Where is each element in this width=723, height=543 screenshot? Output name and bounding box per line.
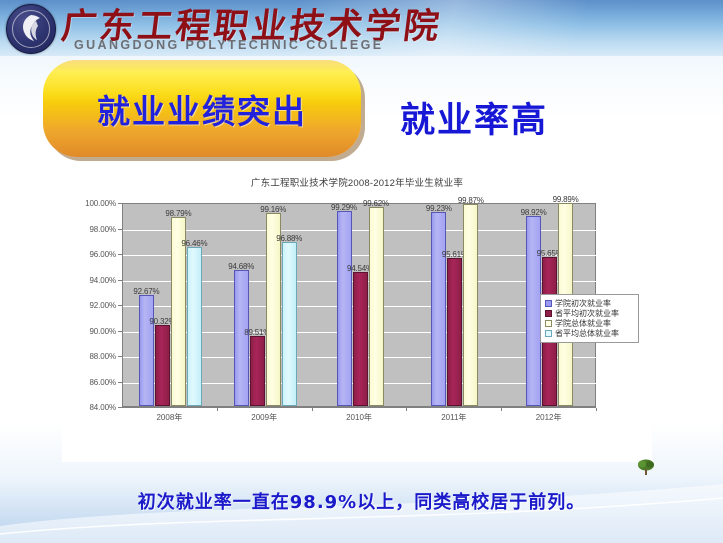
chart-x-axis-line (122, 407, 596, 408)
chart-legend-item[interactable]: 学院总体就业率 (545, 319, 634, 328)
chart-legend-swatch (545, 330, 552, 337)
chart-bar (369, 207, 384, 406)
chart-x-tick-label: 2008年 (144, 412, 194, 423)
chart-bar-label: 96.88% (273, 234, 305, 243)
chart-bar-label: 98.79% (162, 209, 194, 218)
chart-legend-item[interactable]: 省平均总体就业率 (545, 329, 634, 338)
chart-bar-label: 99.29% (328, 203, 360, 212)
chart-x-tick-mark (217, 408, 218, 411)
chart-bar-label: 99.16% (257, 205, 289, 214)
title-right-label: 就业率高 (400, 92, 548, 143)
title-pill-label: 就业业绩突出 (43, 60, 361, 157)
chart-y-tick-label: 84.00% (64, 403, 116, 412)
chart-legend-item[interactable]: 学院初次就业率 (545, 299, 634, 308)
chart-bar (155, 325, 170, 406)
chart-bar (463, 204, 478, 406)
chart-bar-label: 98.92% (518, 208, 550, 217)
chart-legend-label: 省平均总体就业率 (555, 329, 619, 338)
chart-bar (234, 270, 249, 406)
chart-x-tick-label: 2010年 (334, 412, 384, 423)
title-pill: 就业业绩突出 (43, 60, 361, 157)
chart-x-tick-mark (406, 408, 407, 411)
chart-legend: 学院初次就业率省平均初次就业率学院总体就业率省平均总体就业率 (540, 294, 639, 343)
chart-y-tick-label: 100.00% (64, 199, 116, 208)
chart-y-tick-label: 86.00% (64, 378, 116, 387)
chart-y-tick-label: 88.00% (64, 352, 116, 361)
chart-legend-item[interactable]: 省平均初次就业率 (545, 309, 634, 318)
chart-x-tick-mark (501, 408, 502, 411)
chart-bar (526, 216, 541, 406)
chart-y-tick-label: 96.00% (64, 250, 116, 259)
chart-bar-label: 99.62% (360, 199, 392, 208)
chart-bar-label: 99.87% (455, 196, 487, 205)
chart-bar (353, 272, 368, 406)
chart-bar-label: 96.46% (178, 239, 210, 248)
chart-bar (250, 336, 265, 406)
chart-legend-swatch (545, 300, 552, 307)
chart-bar (431, 212, 446, 406)
chart-card: 广东工程职业技术学院2008-2012年毕业生就业率 100.00%98.00%… (62, 172, 652, 462)
slide-root: 广东工程职业技术学院 GUANGDONG POLYTECHNIC COLLEGE… (0, 0, 723, 543)
chart-plot-area: 92.67%90.32%98.79%96.46%94.68%89.51%99.1… (122, 203, 596, 407)
chart-bar (337, 211, 352, 406)
chart-bar-label: 99.89% (550, 195, 582, 204)
chart-x-tick-mark (312, 408, 313, 411)
chart-bar-label: 94.68% (225, 262, 257, 271)
chart-y-tick-label: 90.00% (64, 327, 116, 336)
chart-plot-wrap: 92.67%90.32%98.79%96.46%94.68%89.51%99.1… (122, 203, 596, 407)
chart-bar (282, 242, 297, 406)
chart-y-tick-label: 92.00% (64, 301, 116, 310)
school-name-en: GUANGDONG POLYTECHNIC COLLEGE (74, 38, 383, 52)
slide-caption: 初次就业率一直在98.9%以上，同类高校居于前列。 (0, 488, 723, 514)
chart-title: 广东工程职业技术学院2008-2012年毕业生就业率 (62, 175, 652, 189)
chart-legend-swatch (545, 310, 552, 317)
chart-legend-label: 省平均初次就业率 (555, 309, 619, 318)
chart-legend-swatch (545, 320, 552, 327)
chart-legend-label: 学院初次就业率 (555, 299, 611, 308)
chart-x-tick-label: 2009年 (239, 412, 289, 423)
chart-legend-label: 学院总体就业率 (555, 319, 611, 328)
chart-y-tick-label: 94.00% (64, 276, 116, 285)
chart-bar (139, 295, 154, 406)
emblem-swirl-icon (18, 14, 44, 42)
chart-bar-label: 99.23% (423, 204, 455, 213)
chart-x-tick-label: 2012年 (524, 412, 574, 423)
chart-x-tick-label: 2011年 (429, 412, 479, 423)
college-emblem-icon (6, 4, 56, 54)
header-banner: 广东工程职业技术学院 GUANGDONG POLYTECHNIC COLLEGE (0, 0, 723, 56)
chart-y-tick-label: 98.00% (64, 225, 116, 234)
tree-icon (636, 458, 656, 476)
chart-bar (447, 258, 462, 406)
chart-x-tick-mark (596, 408, 597, 411)
chart-bar (187, 247, 202, 406)
chart-bar-label: 92.67% (130, 287, 162, 296)
